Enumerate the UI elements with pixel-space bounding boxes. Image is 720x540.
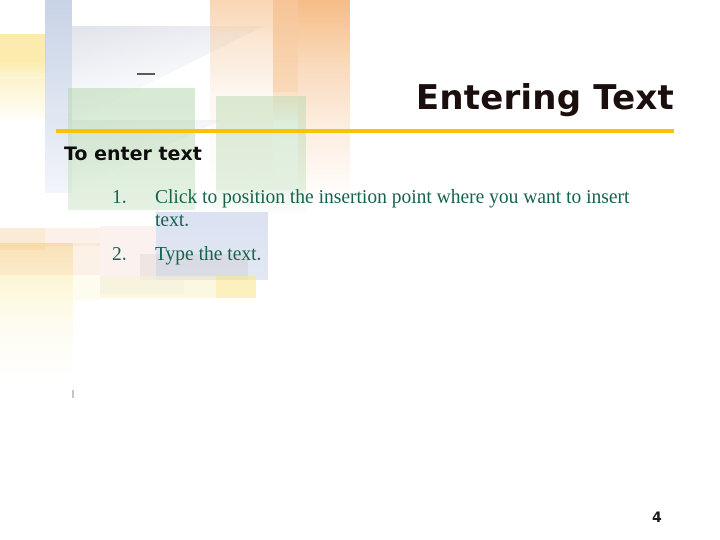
list-item-number: 1.: [112, 186, 155, 209]
steps-list: 1. Click to position the insertion point…: [112, 186, 672, 266]
decorative-block-yellow-top-left: [0, 34, 46, 79]
slide-title: Entering Text: [56, 78, 674, 118]
decorative-column-yellow: [0, 274, 73, 400]
decorative-block-blue-wash: [100, 276, 184, 294]
list-item-text: Click to position the insertion point wh…: [155, 186, 645, 232]
slide-subheading: To enter text: [64, 143, 202, 165]
decorative-band-yellow-pale: [100, 276, 216, 298]
decorative-column-yellow-inner: [73, 274, 100, 300]
presentation-slide: Entering Text To enter text 1. Click to …: [0, 0, 720, 540]
decorative-block-tan-c: [45, 228, 100, 246]
title-underline-rule: [56, 129, 674, 133]
decorative-block-tan-d: [73, 243, 100, 275]
decorative-block-tan-a: [0, 228, 45, 250]
decorative-block-yellow-top-left-fade: [0, 79, 46, 119]
list-item: 2. Type the text.: [112, 243, 672, 266]
decorative-dash-mark: [137, 73, 155, 75]
decorative-band-yellow-bright: [216, 276, 256, 298]
decorative-tick-mark: [72, 390, 74, 398]
page-number: 4: [652, 510, 662, 526]
list-item-number: 2.: [112, 243, 155, 266]
decorative-block-tan-b: [0, 243, 73, 275]
list-item: 1. Click to position the insertion point…: [112, 186, 672, 232]
decorative-block-orange-a: [210, 0, 273, 32]
decorative-block-orange-f: [298, 136, 350, 192]
list-item-text: Type the text.: [155, 243, 645, 266]
